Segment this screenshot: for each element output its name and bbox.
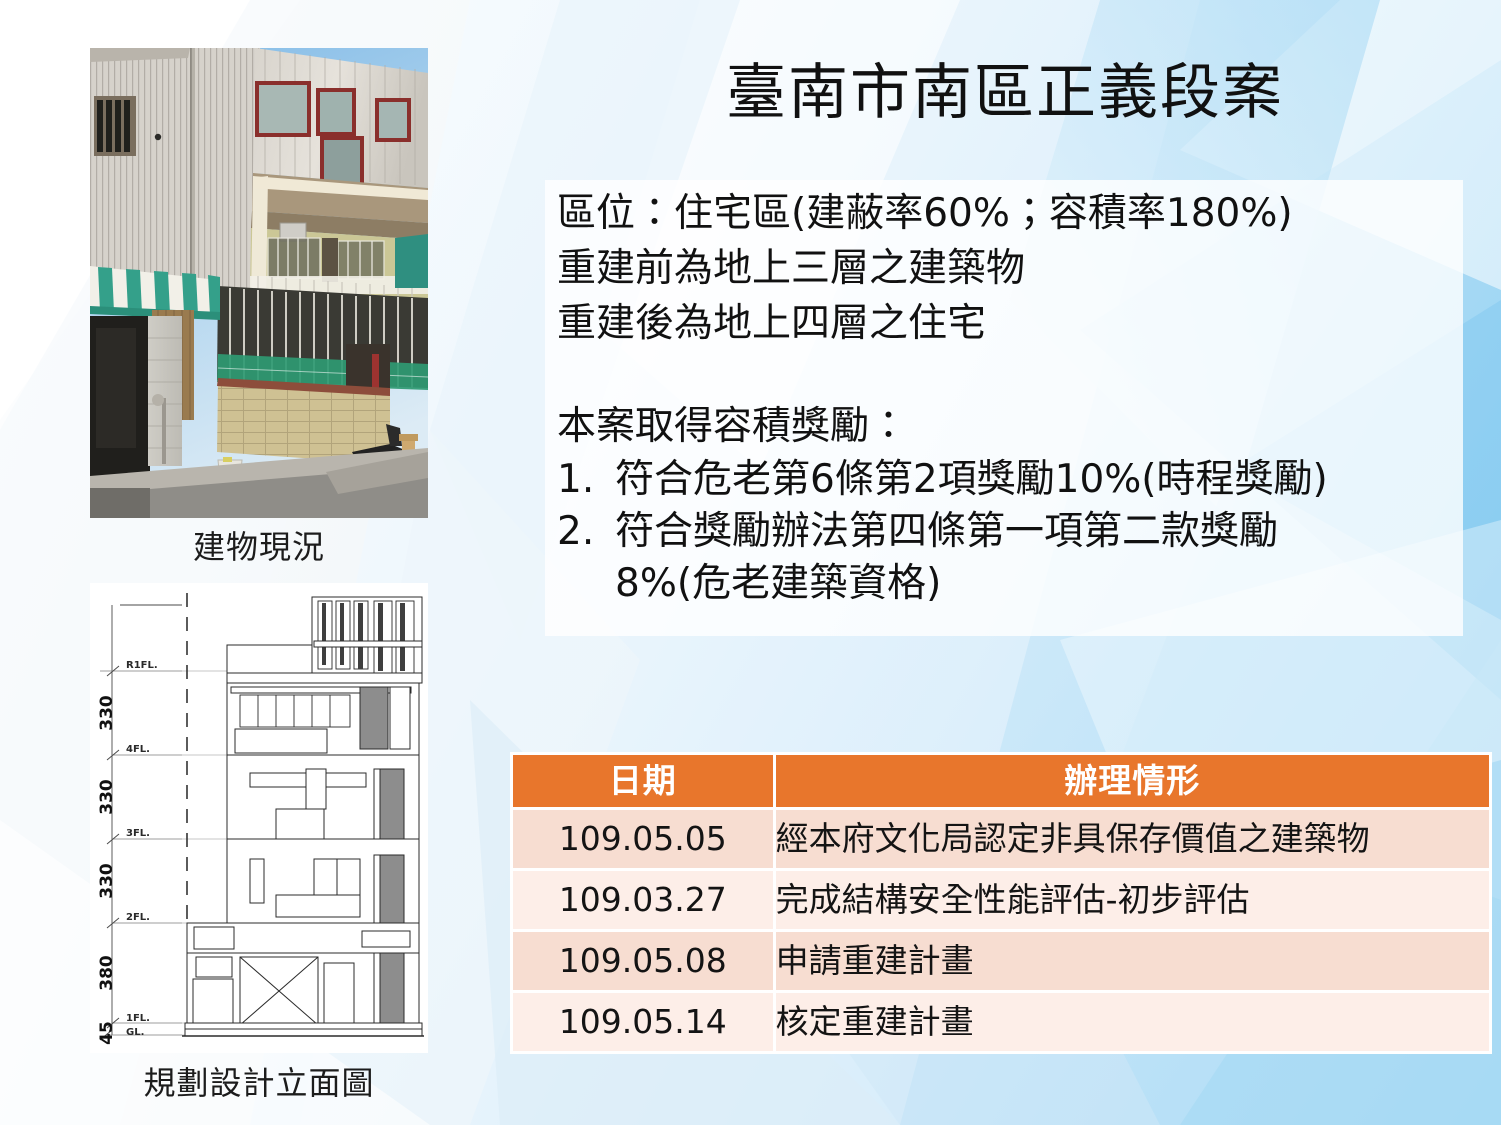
body-line-before: 重建前為地上三層之建築物	[557, 241, 1463, 296]
elevation-drawing: 330 330 330 380 45 R1FL. 4FL. 3FL. 2FL. …	[90, 583, 428, 1053]
body-line-zone: 區位：住宅區(建蔽率60%；容積率180%)	[557, 186, 1463, 241]
svg-text:GL.: GL.	[126, 1027, 144, 1038]
list-item-text: 符合危老第6條第2項獎勵10%(時程獎勵)	[615, 454, 1463, 506]
table-cell-date: 109.05.14	[513, 993, 773, 1051]
body-text-content: 區位：住宅區(建蔽率60%；容積率180%) 重建前為地上三層之建築物 重建後為…	[557, 186, 1463, 610]
list-item-number: 1.	[557, 454, 615, 506]
svg-text:R1FL.: R1FL.	[126, 660, 158, 671]
page-title: 臺南市南區正義段案	[545, 58, 1465, 128]
body-line-after: 重建後為地上四層之住宅	[557, 296, 1463, 351]
list-item-number: 2.	[557, 506, 615, 558]
svg-text:380: 380	[97, 955, 117, 991]
building-photo-image	[90, 48, 428, 518]
elevation-caption: 規劃設計立面圖	[75, 1058, 443, 1104]
list-item: 1. 符合危老第6條第2項獎勵10%(時程獎勵)	[557, 454, 1463, 506]
table-row: 109.05.05 經本府文化局認定非具保存價值之建築物	[513, 810, 1489, 868]
table-row: 109.05.08 申請重建計畫	[513, 932, 1489, 990]
table-header-status: 辦理情形	[776, 755, 1489, 807]
svg-text:330: 330	[97, 863, 117, 899]
table-header-date: 日期	[513, 755, 773, 807]
table-cell-date: 109.05.05	[513, 810, 773, 868]
table-cell-date: 109.05.08	[513, 932, 773, 990]
svg-text:3FL.: 3FL.	[126, 828, 150, 839]
body-spacer	[557, 351, 1463, 399]
list-item-text: 8%(危老建築資格)	[615, 558, 1463, 610]
svg-text:1FL.: 1FL.	[126, 1013, 150, 1024]
list-item: 2. 符合獎勵辦法第四條第一項第二款獎勵	[557, 506, 1463, 558]
svg-text:330: 330	[97, 779, 117, 815]
table-cell-status: 完成結構安全性能評估-初步評估	[776, 871, 1489, 929]
table-cell-date: 109.03.27	[513, 871, 773, 929]
table-row: 109.03.27 完成結構安全性能評估-初步評估	[513, 871, 1489, 929]
table-cell-status: 申請重建計畫	[776, 932, 1489, 990]
slide-canvas: 建物現況	[0, 0, 1501, 1125]
svg-text:2FL.: 2FL.	[126, 912, 150, 923]
list-item: 8%(危老建築資格)	[557, 558, 1463, 610]
table-header-row: 日期 辦理情形	[513, 755, 1489, 807]
list-item-text: 符合獎勵辦法第四條第一項第二款獎勵	[615, 506, 1463, 558]
list-item-number	[557, 558, 615, 610]
svg-text:330: 330	[97, 695, 117, 731]
incentive-list: 1. 符合危老第6條第2項獎勵10%(時程獎勵) 2. 符合獎勵辦法第四條第一項…	[557, 454, 1463, 610]
elevation-drawing-image: 330 330 330 380 45 R1FL. 4FL. 3FL. 2FL. …	[90, 583, 428, 1053]
body-line-incentive-head: 本案取得容積獎勵：	[557, 399, 1463, 454]
svg-text:4FL.: 4FL.	[126, 744, 150, 755]
table-cell-status: 核定重建計畫	[776, 993, 1489, 1051]
photo-caption: 建物現況	[90, 522, 428, 568]
svg-text:45: 45	[97, 1021, 117, 1045]
table-row: 109.05.14 核定重建計畫	[513, 993, 1489, 1051]
table-cell-status: 經本府文化局認定非具保存價值之建築物	[776, 810, 1489, 868]
progress-table: 日期 辦理情形 109.05.05 經本府文化局認定非具保存價值之建築物 109…	[510, 752, 1492, 1054]
building-photo	[90, 48, 428, 518]
